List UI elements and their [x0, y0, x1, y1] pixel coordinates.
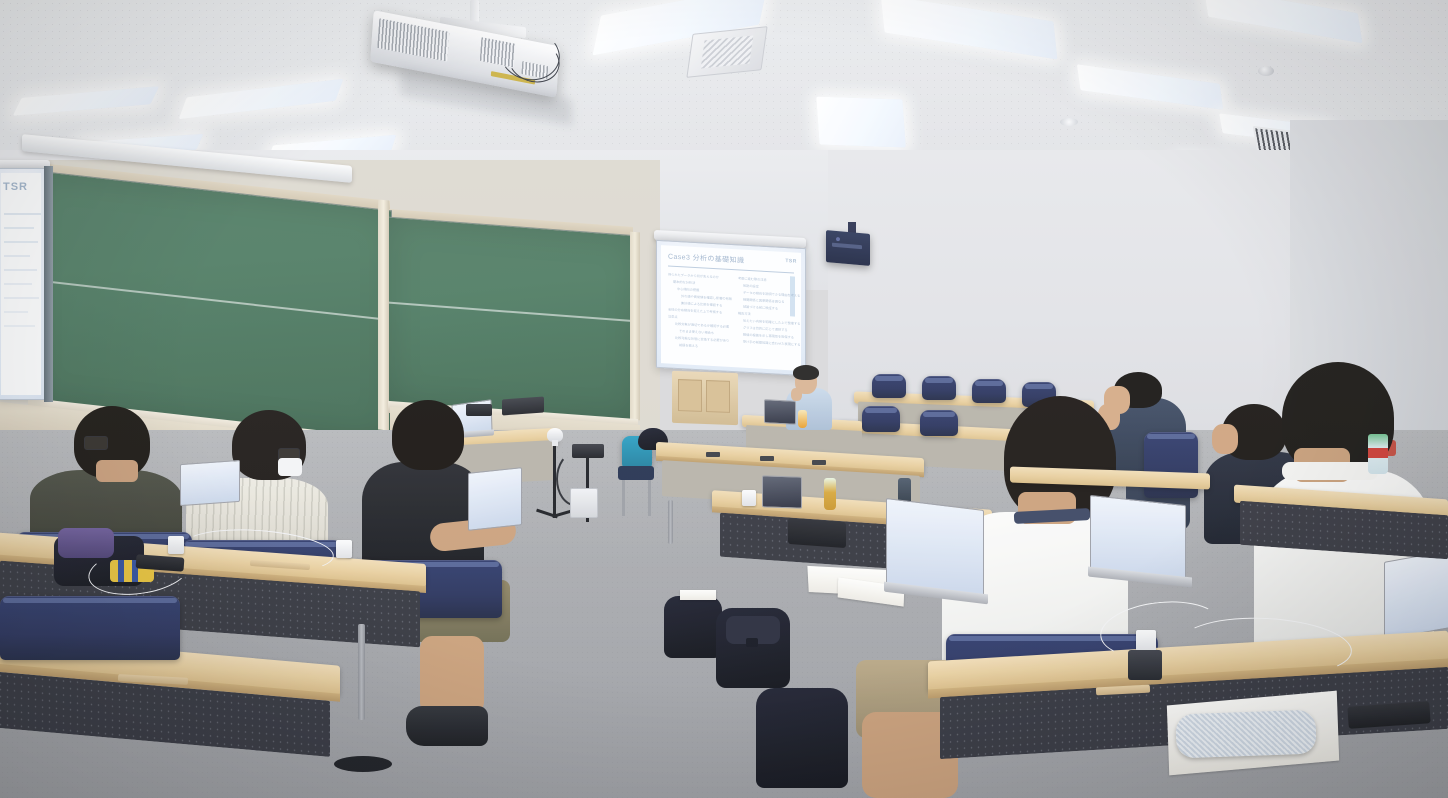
chalkboard-panel-left [30, 170, 392, 443]
desk-pedestal-base [334, 756, 392, 772]
smoke-detector-icon [1258, 66, 1274, 76]
empty-chair [972, 379, 1006, 403]
student-1-glasses [84, 436, 108, 450]
empty-chair [862, 406, 900, 432]
purple-bag [58, 528, 114, 558]
student-6-face [1212, 424, 1238, 454]
seated-faculty-hair [793, 365, 819, 380]
av-equipment-case [466, 404, 492, 416]
projection-screen-left: TSR [0, 168, 46, 400]
lecture-hall-photo: TSR Case3 分析の基礎知識 TSR 得られたデータから何が言えるの [0, 0, 1448, 798]
ceiling-downlight [1060, 118, 1078, 126]
projection-screen-main: Case3 分析の基礎知識 TSR 得られたデータから何が言えるのか 基本的な分… [656, 240, 806, 376]
ceiling-light-panel [816, 96, 906, 147]
student-7-laptop [1384, 550, 1448, 640]
podium [672, 371, 738, 425]
av-equipment-case [502, 397, 544, 416]
power-adapter [336, 540, 352, 558]
book-on-backpack [680, 590, 716, 600]
orange-drink-bottle [798, 410, 807, 428]
front-chair [0, 596, 180, 660]
student-2-face-mask [278, 458, 302, 476]
chalkboard-panel-center [388, 217, 638, 424]
desk-outlet [812, 460, 826, 465]
power-strip [570, 488, 598, 518]
student-3-laptop [468, 467, 522, 531]
desk-outlet [706, 452, 720, 457]
mesh-pouch [1175, 710, 1316, 759]
slide-surface-left: TSR [1, 173, 41, 395]
student-2-laptop [180, 460, 240, 506]
chalkboard-divider [630, 232, 640, 421]
student-7-collar [1282, 462, 1378, 480]
slide-logo-left: TSR [3, 181, 28, 193]
empty-chair [920, 410, 958, 436]
empty-chair [922, 376, 956, 400]
ceiling-air-diffuser [686, 26, 767, 78]
screen-left-edge-frame [44, 166, 53, 402]
student-3-shoe [406, 706, 488, 746]
backpack [664, 596, 722, 658]
empty-chair [872, 374, 906, 398]
teal-chair-seat [618, 466, 654, 480]
slide-left-column: 得られたデータから何が言えるのか 基本的な分析法 中心傾向の把握 外れ値や異常値… [668, 271, 728, 352]
slide-surface-main: Case3 分析の基礎知識 TSR 得られたデータから何が言えるのか 基本的な分… [661, 245, 801, 371]
tablet-device [762, 475, 802, 508]
student-3-leg [420, 636, 484, 714]
student-3-torso [362, 462, 484, 574]
power-adapter [742, 490, 756, 506]
bottle-label [1368, 448, 1388, 458]
slide-logo-main: TSR [785, 258, 797, 265]
desk-outlet [760, 456, 774, 461]
green-tea-bottle [824, 478, 836, 510]
chalkboard-divider [378, 199, 389, 430]
backpack [716, 608, 790, 688]
slide-right-column: 考察に進む際の注意 仮説の設定 データの傾向を説明できる理由を考える 相関関係と… [738, 275, 794, 349]
seated-faculty-hand [791, 388, 802, 401]
faculty-laptop [764, 399, 796, 425]
student-1-neck [96, 460, 138, 482]
desk-leg [668, 500, 673, 544]
desk-leg [358, 624, 365, 720]
tablet-case [788, 518, 846, 548]
wall-speaker [826, 230, 870, 266]
backpack [756, 688, 848, 788]
teal-chair-legs [648, 480, 651, 516]
student-3-hair [392, 400, 464, 470]
teal-chair-legs [622, 480, 625, 516]
